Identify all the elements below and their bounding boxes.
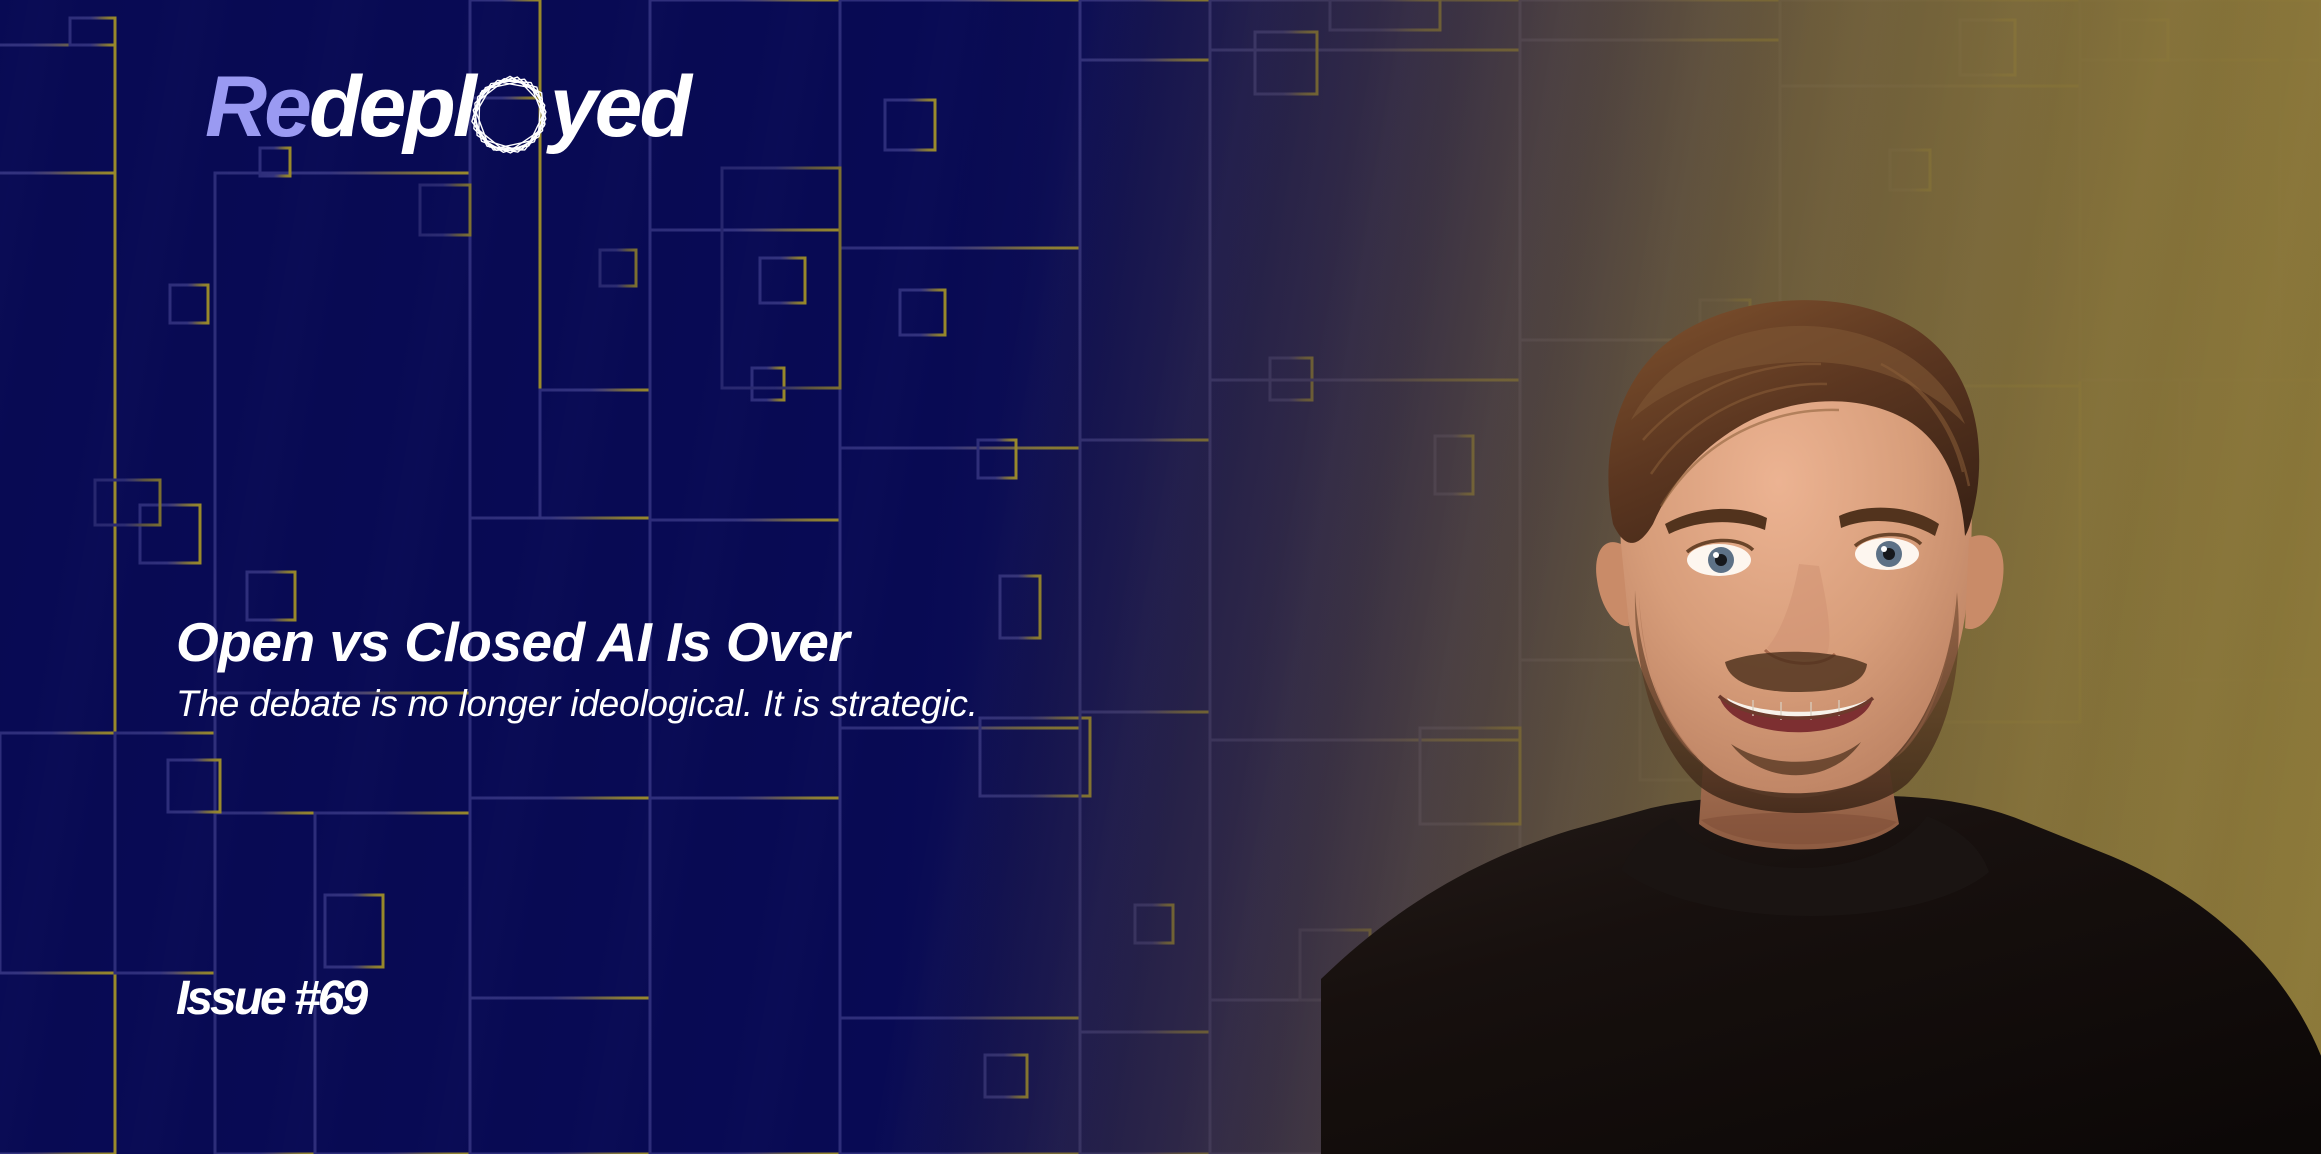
logo-prefix-re: Re <box>205 64 309 150</box>
brand-logo[interactable]: Re depl yed <box>205 52 689 162</box>
headline-block: Open vs Closed AI Is Over The debate is … <box>176 612 1376 725</box>
page-title: Open vs Closed AI Is Over <box>176 612 1376 673</box>
issue-number-label: Issue #69 <box>176 975 365 1023</box>
logo-suffix-yed: yed <box>550 64 689 150</box>
tangled-circle-scribble-icon <box>464 69 556 161</box>
logo-suffix-depl: depl <box>309 64 474 150</box>
page-subtitle: The debate is no longer ideological. It … <box>176 683 1376 726</box>
newsletter-header-banner: Re depl yed Open vs Closed AI Is Over Th… <box>0 0 2321 1154</box>
